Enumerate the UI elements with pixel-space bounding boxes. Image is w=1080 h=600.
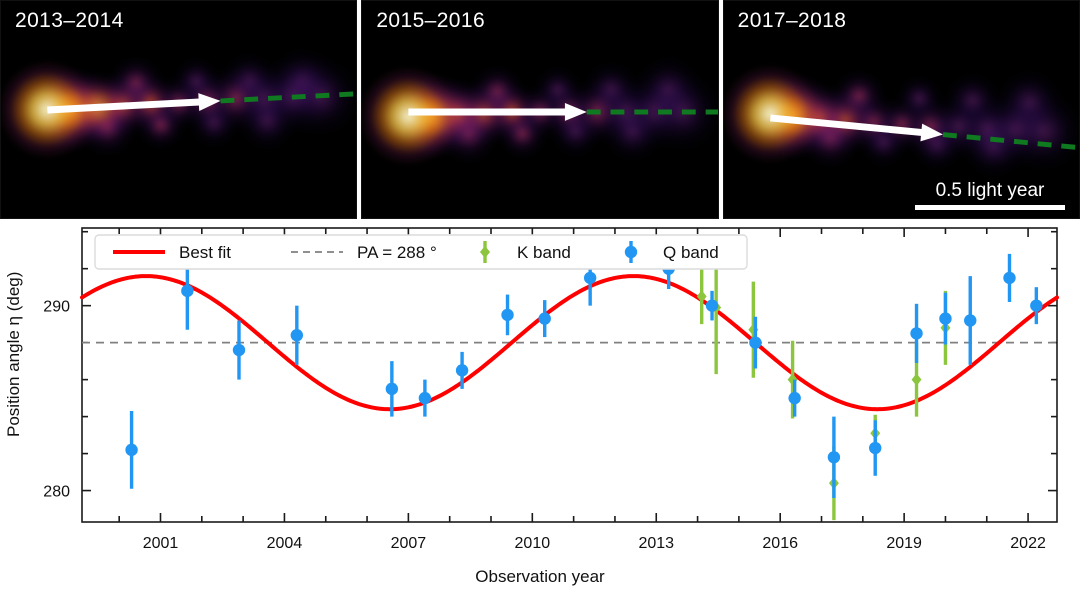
x-tick-label: 2013 bbox=[638, 535, 674, 552]
jet-panel: 2017–2018 0.5 light year bbox=[723, 0, 1080, 219]
jet-arrow-overlay bbox=[1, 1, 356, 218]
data-point bbox=[869, 442, 881, 454]
data-point bbox=[939, 312, 951, 324]
data-point bbox=[1003, 272, 1015, 284]
x-tick-label: 2016 bbox=[762, 535, 798, 552]
figure-root: 2013–2014 2015–2016 2017–2018 0.5 light … bbox=[0, 0, 1080, 595]
data-point bbox=[706, 299, 718, 311]
jet-arrow-head bbox=[198, 93, 220, 111]
scale-bar-label: 0.5 light year bbox=[915, 180, 1065, 202]
pa-direction-dashed-line bbox=[221, 93, 357, 101]
jet-panel: 2015–2016 bbox=[361, 0, 718, 219]
legend-label-pa-line: PA = 288 ° bbox=[357, 243, 437, 262]
plot-frame bbox=[82, 228, 1057, 522]
data-point bbox=[749, 336, 761, 348]
jet-arrow-shaft bbox=[770, 118, 929, 133]
x-tick-label: 2001 bbox=[143, 535, 179, 552]
position-angle-plot: Position angle η (deg) Observation year … bbox=[0, 219, 1080, 595]
data-point bbox=[233, 344, 245, 356]
x-tick-label: 2010 bbox=[515, 535, 551, 552]
x-tick-label: 2004 bbox=[267, 535, 303, 552]
jet-arrow-head bbox=[920, 124, 943, 142]
y-tick-label: 290 bbox=[43, 299, 70, 316]
y-axis-label: Position angle η (deg) bbox=[4, 272, 24, 437]
x-tick-label: 2019 bbox=[886, 535, 922, 552]
data-point bbox=[125, 444, 137, 456]
legend-label-best-fit: Best fit bbox=[179, 243, 231, 262]
data-point bbox=[419, 392, 431, 404]
legend-label-k-band: K band bbox=[517, 243, 571, 262]
jet-arrow-head bbox=[565, 103, 587, 121]
data-point bbox=[501, 309, 513, 321]
data-point bbox=[386, 383, 398, 395]
pa-direction-dashed-line bbox=[943, 135, 1079, 150]
legend-label-q-band: Q band bbox=[663, 243, 719, 262]
x-tick-label: 2022 bbox=[1010, 535, 1046, 552]
data-point bbox=[788, 392, 800, 404]
legend-swatch-q-band-marker bbox=[625, 246, 637, 258]
data-point bbox=[828, 451, 840, 463]
data-point bbox=[181, 285, 193, 297]
data-point bbox=[964, 314, 976, 326]
chart-svg: 28029020012004200720102013201620192022Be… bbox=[0, 219, 1080, 595]
x-tick-label: 2007 bbox=[391, 535, 427, 552]
jet-arrow-overlay bbox=[362, 1, 717, 218]
scale-bar-line bbox=[915, 205, 1065, 210]
jet-arrow-shaft bbox=[47, 102, 206, 110]
data-point bbox=[291, 329, 303, 341]
data-point bbox=[584, 272, 596, 284]
x-axis-label: Observation year bbox=[0, 567, 1080, 587]
data-point bbox=[456, 364, 468, 376]
data-point bbox=[539, 312, 551, 324]
scale-bar: 0.5 light year bbox=[915, 180, 1065, 210]
jet-panel: 2013–2014 bbox=[0, 0, 357, 219]
jet-panels-row: 2013–2014 2015–2016 2017–2018 0.5 light … bbox=[0, 0, 1080, 219]
data-point bbox=[1030, 299, 1042, 311]
y-tick-label: 280 bbox=[43, 484, 70, 501]
data-point bbox=[910, 327, 922, 339]
